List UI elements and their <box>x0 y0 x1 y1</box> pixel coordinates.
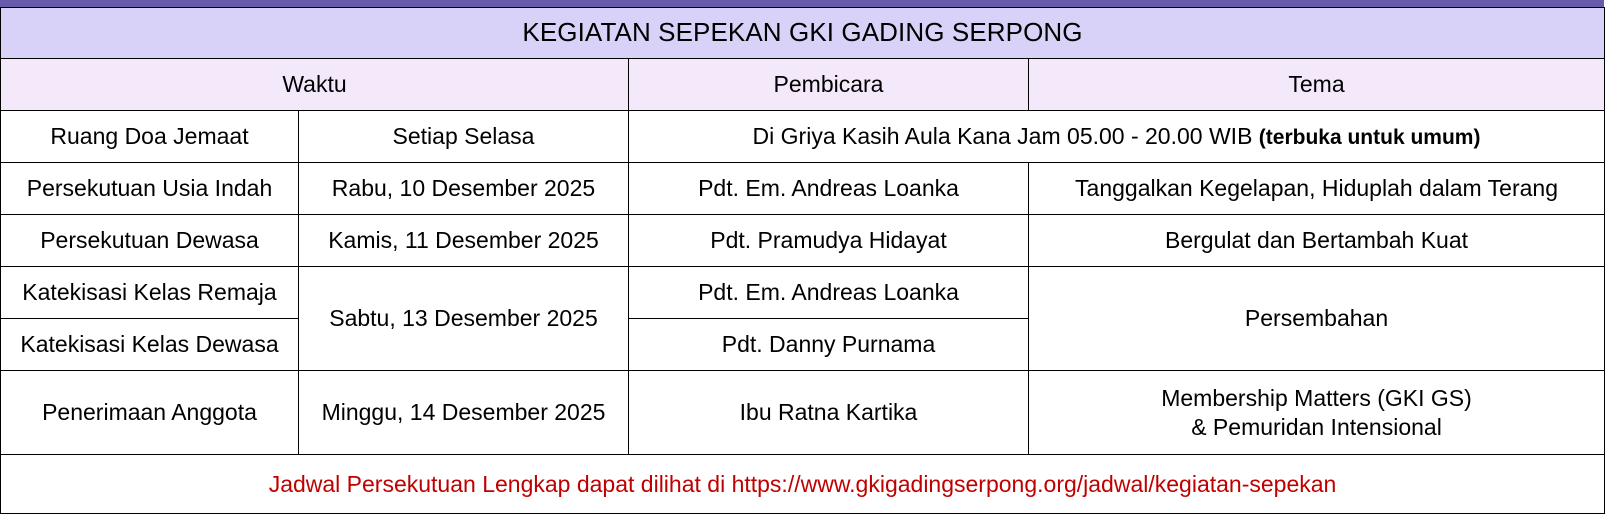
activity-speaker: Ibu Ratna Kartika <box>629 371 1029 455</box>
activity-date: Kamis, 11 Desember 2025 <box>299 215 629 267</box>
activity-theme: Membership Matters (GKI GS) & Pemuridan … <box>1029 371 1605 455</box>
footer-row: Jadwal Persekutuan Lengkap dapat dilihat… <box>1 455 1605 514</box>
footer-note[interactable]: Jadwal Persekutuan Lengkap dapat dilihat… <box>1 455 1605 514</box>
activity-speaker: Pdt. Em. Andreas Loanka <box>629 163 1029 215</box>
activity-date: Minggu, 14 Desember 2025 <box>299 371 629 455</box>
activity-date: Rabu, 10 Desember 2025 <box>299 163 629 215</box>
activity-name: Katekisasi Kelas Remaja <box>1 267 299 319</box>
activity-name: Katekisasi Kelas Dewasa <box>1 319 299 371</box>
table-row: Persekutuan Usia Indah Rabu, 10 Desember… <box>1 163 1605 215</box>
schedule-sheet: KEGIATAN SEPEKAN GKI GADING SERPONG Wakt… <box>0 0 1613 518</box>
column-header-tema: Tema <box>1029 59 1605 111</box>
activity-name: Ruang Doa Jemaat <box>1 111 299 163</box>
activity-note: Di Griya Kasih Aula Kana Jam 05.00 - 20.… <box>629 111 1605 163</box>
top-accent-strip <box>0 0 1604 7</box>
activity-speaker: Pdt. Em. Andreas Loanka <box>629 267 1029 319</box>
column-header-pembicara: Pembicara <box>629 59 1029 111</box>
table-row: Penerimaan Anggota Minggu, 14 Desember 2… <box>1 371 1605 455</box>
table-row: Ruang Doa Jemaat Setiap Selasa Di Griya … <box>1 111 1605 163</box>
activity-name: Penerimaan Anggota <box>1 371 299 455</box>
title-row: KEGIATAN SEPEKAN GKI GADING SERPONG <box>1 8 1605 59</box>
activity-speaker: Pdt. Danny Purnama <box>629 319 1029 371</box>
activity-name: Persekutuan Dewasa <box>1 215 299 267</box>
weekly-activity-table: KEGIATAN SEPEKAN GKI GADING SERPONG Wakt… <box>0 7 1605 514</box>
activity-date: Sabtu, 13 Desember 2025 <box>299 267 629 371</box>
column-header-waktu: Waktu <box>1 59 629 111</box>
page-title: KEGIATAN SEPEKAN GKI GADING SERPONG <box>1 8 1605 59</box>
activity-speaker: Pdt. Pramudya Hidayat <box>629 215 1029 267</box>
table-row: Katekisasi Kelas Remaja Sabtu, 13 Desemb… <box>1 267 1605 319</box>
activity-date: Setiap Selasa <box>299 111 629 163</box>
table-row: Persekutuan Dewasa Kamis, 11 Desember 20… <box>1 215 1605 267</box>
activity-theme: Tanggalkan Kegelapan, Hiduplah dalam Ter… <box>1029 163 1605 215</box>
activity-theme: Persembahan <box>1029 267 1605 371</box>
activity-theme-line2: & Pemuridan Intensional <box>1035 413 1598 441</box>
activity-note-plain: Di Griya Kasih Aula Kana Jam 05.00 - 20.… <box>753 123 1259 149</box>
activity-theme-line1: Membership Matters (GKI GS) <box>1035 384 1598 412</box>
activity-note-bold: (terbuka untuk umum) <box>1259 126 1481 149</box>
column-header-row: Waktu Pembicara Tema <box>1 59 1605 111</box>
activity-name: Persekutuan Usia Indah <box>1 163 299 215</box>
activity-theme: Bergulat dan Bertambah Kuat <box>1029 215 1605 267</box>
